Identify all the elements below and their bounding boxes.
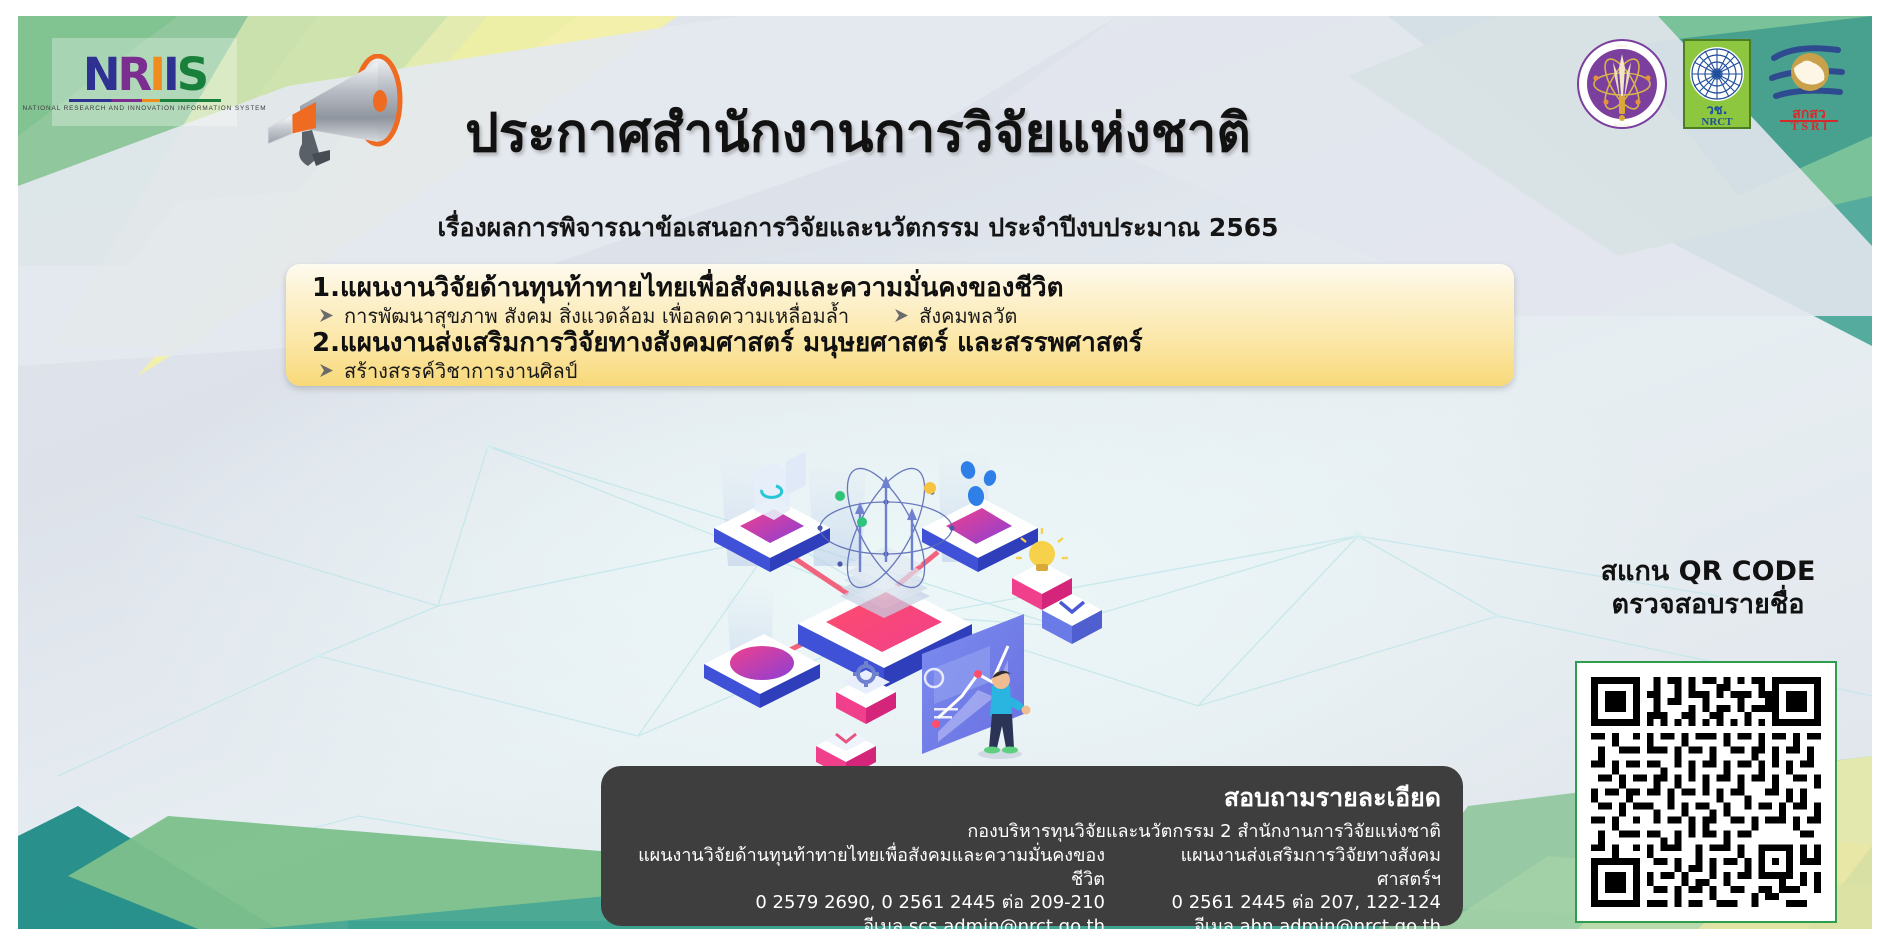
contact-title: สอบถามรายละเอียด bbox=[623, 778, 1441, 818]
nriis-letter-s: S bbox=[177, 52, 206, 97]
nriis-letter-n: N bbox=[83, 52, 118, 97]
programs-panel: 1.แผนงานวิจัยด้านทุนท้าทายไทยเพื่อสังคมแ… bbox=[286, 264, 1514, 386]
nrct-emblem-icon: วช. NRCT bbox=[1682, 38, 1752, 130]
contact-left-email[interactable]: อีเมล scs.admin@nrct.go.th bbox=[623, 915, 1105, 929]
program-1-bullet-2: สังคมพลวัต bbox=[893, 304, 1017, 328]
contact-column-right: แผนงานส่งเสริมการวิจัยทางสังคมศาสตร์ฯ 0 … bbox=[1123, 844, 1441, 929]
svg-text:NATIONAL: NATIONAL bbox=[1614, 123, 1631, 127]
program-1-bullet-1: การพัฒนาสุขภาพ สังคม สิ่งแวดล้อม เพื่อลด… bbox=[318, 304, 849, 328]
nriis-letter-r: R bbox=[118, 52, 150, 97]
contact-left-phone: 0 2579 2690, 0 2561 2445 ต่อ 209-210 bbox=[623, 891, 1105, 915]
program-2-bullet-1: สร้างสรรค์วิชาการงานศิลป์ bbox=[318, 359, 577, 383]
arrow-bullet-icon bbox=[893, 307, 910, 324]
qr-code-icon[interactable] bbox=[1591, 677, 1821, 907]
nrct-label-en: NRCT bbox=[1701, 116, 1733, 128]
nriis-logo: N R I I S NATIONAL RESEARCH AND INNOVATI… bbox=[52, 38, 237, 126]
contact-column-left: แผนงานวิจัยด้านทุนท้าทายไทยเพื่อสังคมและ… bbox=[623, 844, 1105, 929]
megaphone-icon bbox=[250, 54, 420, 174]
svg-text:MHESI: MHESI bbox=[1617, 44, 1628, 48]
program-2-bullet-1-label: สร้างสรรค์วิชาการงานศิลป์ bbox=[344, 359, 577, 383]
program-2-bullets: สร้างสรรค์วิชาการงานศิลป์ bbox=[312, 359, 1488, 383]
arrow-bullet-icon bbox=[318, 307, 335, 324]
tsri-logo: สกสว T S R I bbox=[1766, 38, 1852, 130]
qr-caption-line1: สแกน QR CODE bbox=[1548, 556, 1868, 589]
qr-code-card[interactable] bbox=[1575, 661, 1837, 923]
nriis-rule bbox=[69, 99, 221, 102]
tsri-emblem-icon: สกสว T S R I bbox=[1766, 38, 1852, 130]
program-2-heading: 2.แผนงานส่งเสริมการวิจัยทางสังคมศาสตร์ ม… bbox=[312, 328, 1488, 359]
contact-left-program: แผนงานวิจัยด้านทุนท้าทายไทยเพื่อสังคมและ… bbox=[623, 844, 1105, 892]
mhesi-emblem-icon: MHESI NATIONAL bbox=[1576, 38, 1668, 130]
qr-caption-line2: ตรวจสอบรายชื่อ bbox=[1548, 589, 1868, 622]
program-1-bullet-2-label: สังคมพลวัต bbox=[919, 304, 1017, 328]
program-1-heading: 1.แผนงานวิจัยด้านทุนท้าทายไทยเพื่อสังคมแ… bbox=[312, 273, 1488, 304]
contact-right-email[interactable]: อีเมล ahn.admin@nrct.go.th bbox=[1123, 915, 1441, 929]
nriis-letter-i1: I bbox=[149, 52, 163, 97]
poster-root: N R I I S NATIONAL RESEARCH AND INNOVATI… bbox=[0, 0, 1890, 945]
contact-org: กองบริหารทุนวิจัยและนวัตกรรม 2 สำนักงานก… bbox=[623, 820, 1441, 844]
poster-canvas: N R I I S NATIONAL RESEARCH AND INNOVATI… bbox=[18, 16, 1872, 929]
mhesi-logo: MHESI NATIONAL bbox=[1576, 38, 1668, 130]
page-subtitle: เรื่องผลการพิจารณาข้อเสนอการวิจัยและนวัต… bbox=[348, 208, 1368, 248]
contact-columns: แผนงานวิจัยด้านทุนท้าทายไทยเพื่อสังคมและ… bbox=[623, 844, 1441, 929]
isometric-tech-illustration bbox=[690, 446, 1190, 786]
nrct-logo: วช. NRCT bbox=[1682, 38, 1752, 130]
program-1-bullet-1-label: การพัฒนาสุขภาพ สังคม สิ่งแวดล้อม เพื่อลด… bbox=[344, 304, 849, 328]
contact-right-phone: 0 2561 2445 ต่อ 207, 122-124 bbox=[1123, 891, 1441, 915]
nriis-subtitle: NATIONAL RESEARCH AND INNOVATION INFORMA… bbox=[22, 105, 266, 112]
arrow-bullet-icon bbox=[318, 362, 335, 379]
program-1-bullets: การพัฒนาสุขภาพ สังคม สิ่งแวดล้อม เพื่อลด… bbox=[312, 304, 1488, 328]
agency-logos: MHESI NATIONAL bbox=[1576, 38, 1852, 130]
contact-box: สอบถามรายละเอียด กองบริหารทุนวิจัยและนวั… bbox=[601, 766, 1463, 926]
nriis-letter-i2: I bbox=[163, 52, 177, 97]
contact-right-program: แผนงานส่งเสริมการวิจัยทางสังคมศาสตร์ฯ bbox=[1123, 844, 1441, 892]
nriis-wordmark: N R I I S bbox=[83, 52, 206, 97]
tsri-label-en: T S R I bbox=[1791, 119, 1828, 130]
qr-caption: สแกน QR CODE ตรวจสอบรายชื่อ bbox=[1548, 556, 1868, 622]
page-title: ประกาศสำนักงานการวิจัยแห่งชาติ bbox=[408, 91, 1308, 175]
